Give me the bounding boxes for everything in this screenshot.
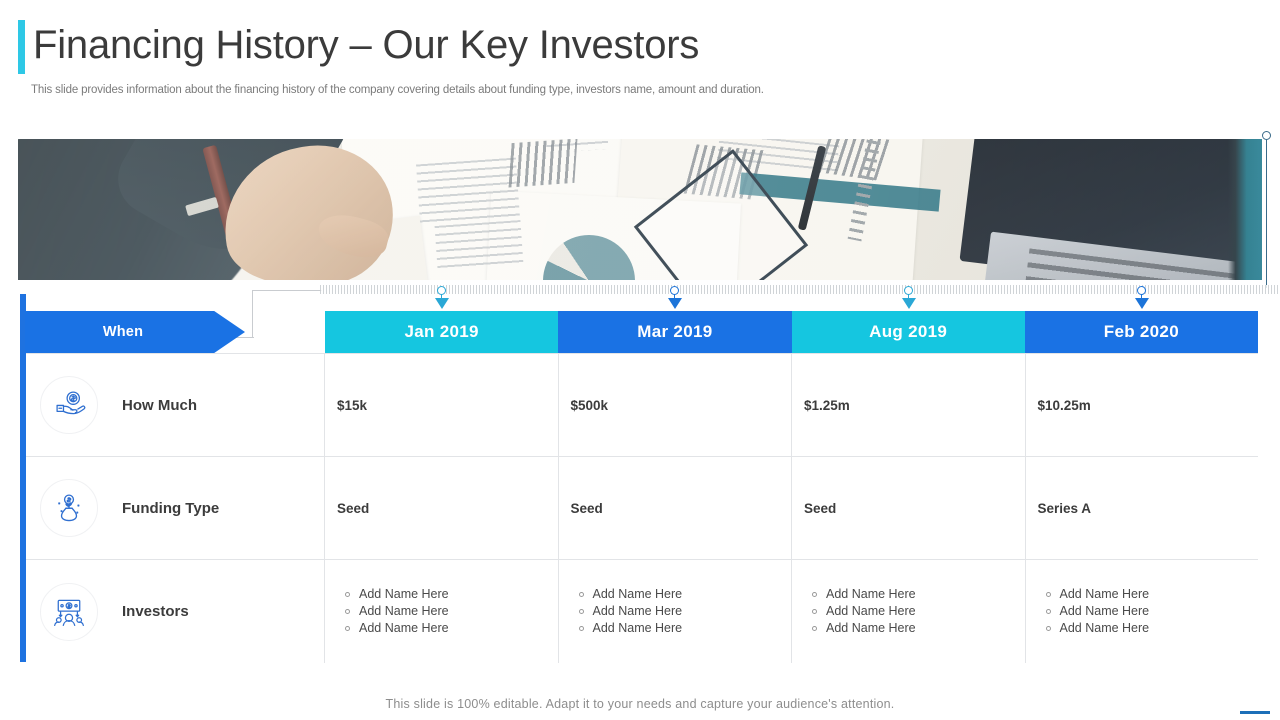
cell-investors-mar-2019: Add Name Here Add Name Here Add Name Her… (559, 560, 793, 663)
column-header-mar-2019[interactable]: Mar 2019 (558, 311, 791, 353)
table-row: Funding Type Seed Seed Seed Series A (26, 457, 1258, 560)
column-header-label: Mar 2019 (637, 322, 712, 342)
cell-how-much-jan-2019: $15k (325, 354, 559, 456)
marker-triangle-icon (1135, 298, 1149, 309)
list-item: Add Name Here (826, 586, 916, 603)
cell-investors-jan-2019: Add Name Here Add Name Here Add Name Her… (325, 560, 559, 663)
cell-funding-type-aug-2019: Seed (792, 457, 1026, 559)
cell-value: Series A (1038, 501, 1092, 516)
row-label-cell-investors: Investors (26, 560, 325, 663)
cell-value: $15k (337, 398, 367, 413)
cell-funding-type-jan-2019: Seed (325, 457, 559, 559)
row-label-cell-funding-type: Funding Type (26, 457, 325, 559)
hand-holding-coin-icon (40, 376, 98, 434)
cell-funding-type-mar-2019: Seed (559, 457, 793, 559)
timeline-marker-mar-2019 (667, 286, 683, 312)
list-item: Add Name Here (826, 620, 916, 637)
investor-list: Add Name Here Add Name Here Add Name Her… (571, 586, 683, 637)
page-subtitle: This slide provides information about th… (31, 84, 764, 96)
cell-value: Seed (804, 501, 836, 516)
column-header-label: Feb 2020 (1104, 322, 1179, 342)
investor-list: Add Name Here Add Name Here Add Name Her… (1038, 586, 1150, 637)
list-item: Add Name Here (359, 620, 449, 637)
list-item: Add Name Here (359, 603, 449, 620)
cell-how-much-mar-2019: $500k (559, 354, 793, 456)
investor-list: Add Name Here Add Name Here Add Name Her… (804, 586, 916, 637)
photo-composition (18, 139, 1262, 280)
right-connector-line (1266, 138, 1267, 288)
list-item: Add Name Here (593, 586, 683, 603)
table-body: How Much $15k $500k $1.25m $10.25m (26, 353, 1258, 663)
photo-teal-edge (1228, 139, 1262, 280)
page-title: Financing History – Our Key Investors (33, 23, 699, 68)
cell-value: Seed (571, 501, 603, 516)
right-connector-dot-icon (1262, 131, 1271, 140)
list-item: Add Name Here (1060, 620, 1150, 637)
cell-value: $1.25m (804, 398, 850, 413)
timeline-marker-jan-2019 (434, 286, 450, 312)
column-header-label: Jan 2019 (405, 322, 479, 342)
cell-value: $500k (571, 398, 609, 413)
banner-photo-business-charts (18, 139, 1262, 280)
timeline-marker-aug-2019 (901, 286, 917, 312)
marker-triangle-icon (902, 298, 916, 309)
footer-accent-mark (1240, 711, 1270, 714)
footer-note: This slide is 100% editable. Adapt it to… (0, 697, 1280, 711)
money-bag-plant-icon (40, 479, 98, 537)
cell-how-much-aug-2019: $1.25m (792, 354, 1026, 456)
cell-value: Seed (337, 501, 369, 516)
list-item: Add Name Here (359, 586, 449, 603)
row-label-cell-how-much: How Much (26, 354, 325, 456)
list-item: Add Name Here (1060, 603, 1150, 620)
table-header-row: Jan 2019 Mar 2019 Aug 2019 Feb 2020 (325, 311, 1258, 353)
investor-list: Add Name Here Add Name Here Add Name Her… (337, 586, 449, 637)
cell-investors-aug-2019: Add Name Here Add Name Here Add Name Her… (792, 560, 1026, 663)
row-label: How Much (122, 397, 197, 414)
cell-funding-type-feb-2020: Series A (1026, 457, 1259, 559)
marker-triangle-icon (435, 298, 449, 309)
column-header-feb-2020[interactable]: Feb 2020 (1025, 311, 1258, 353)
photo-bar-chart-1 (509, 139, 578, 187)
column-header-jan-2019[interactable]: Jan 2019 (325, 311, 558, 353)
marker-triangle-icon (668, 298, 682, 309)
list-item: Add Name Here (826, 603, 916, 620)
photo-text-lines-1 (416, 158, 520, 225)
row-label: Investors (122, 603, 189, 620)
column-header-label: Aug 2019 (869, 322, 947, 342)
list-item: Add Name Here (1060, 586, 1150, 603)
list-item: Add Name Here (593, 603, 683, 620)
row-label: Funding Type (122, 500, 219, 517)
table-row: Investors Add Name Here Add Name Here Ad… (26, 560, 1258, 663)
financing-history-table: Jan 2019 Mar 2019 Aug 2019 Feb 2020 (26, 311, 1258, 662)
timeline-marker-feb-2020 (1134, 286, 1150, 312)
cell-how-much-feb-2020: $10.25m (1026, 354, 1259, 456)
title-accent-bar (18, 20, 25, 74)
cell-investors-feb-2020: Add Name Here Add Name Here Add Name Her… (1026, 560, 1259, 663)
ruler-lead-line (252, 290, 322, 291)
column-header-aug-2019[interactable]: Aug 2019 (792, 311, 1025, 353)
photo-text-lines-2 (435, 220, 524, 270)
cell-value: $10.25m (1038, 398, 1091, 413)
list-item: Add Name Here (593, 620, 683, 637)
table-row: How Much $15k $500k $1.25m $10.25m (26, 354, 1258, 457)
investors-money-people-icon (40, 583, 98, 641)
